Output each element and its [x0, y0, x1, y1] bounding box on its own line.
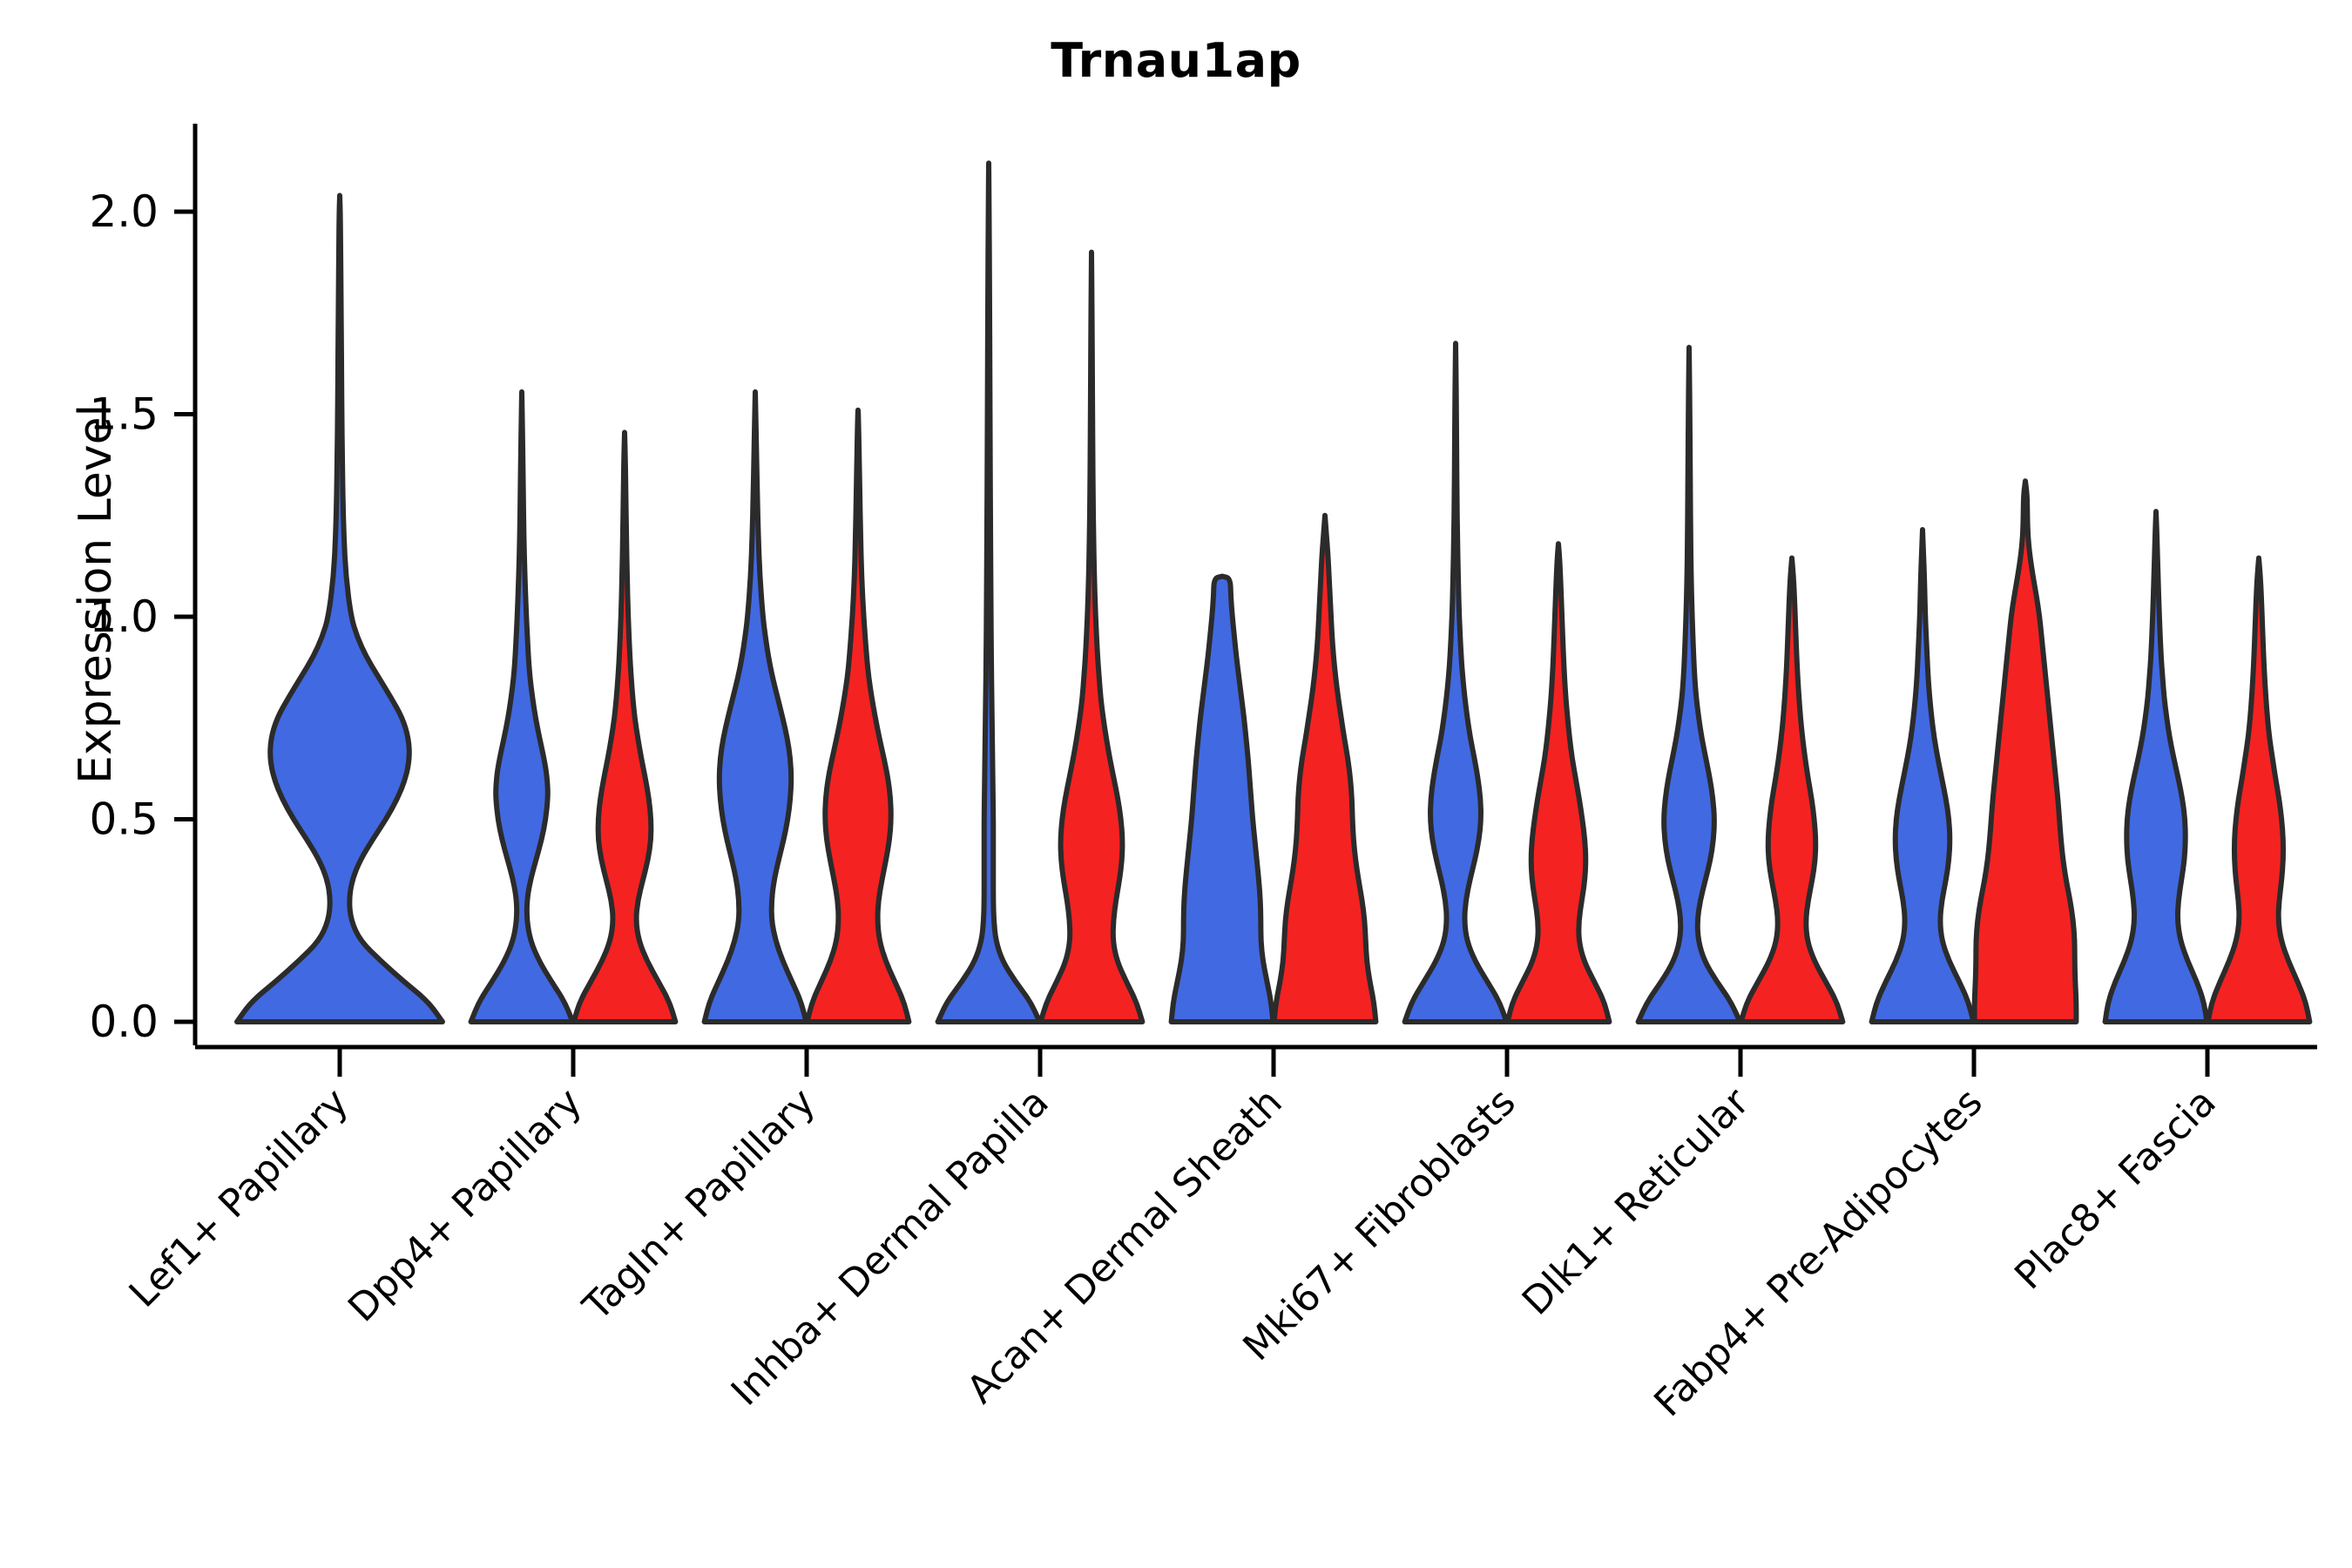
- violin-plot-figure: Trnau1ap Expression Level 0.00.51.01.52.…: [0, 0, 2352, 1568]
- violin-shapes: [237, 163, 2309, 1022]
- violin-group_a[interactable]: [1872, 530, 1974, 1022]
- violin-group_b[interactable]: [1508, 544, 1610, 1022]
- violin-group_b[interactable]: [1975, 481, 2077, 1022]
- y-tick-label: 2.0: [89, 186, 159, 237]
- x-tick-label: Dlk1+ Reticular: [1514, 1079, 1759, 1324]
- violin-group_a[interactable]: [1639, 348, 1740, 1022]
- violin-group_a[interactable]: [1172, 577, 1274, 1023]
- y-tick-label: 1.5: [89, 389, 159, 440]
- violin-group_a[interactable]: [938, 163, 1040, 1022]
- y-axis-ticks: 0.00.51.01.52.0: [89, 186, 195, 1047]
- x-tick-label: TagIn+ Papillary: [574, 1080, 824, 1330]
- x-axis-ticks: [340, 1047, 2207, 1077]
- x-tick-label: Plac8+ Fascia: [2006, 1080, 2225, 1299]
- x-axis-labels: Lef1+ PapillaryDpp4+ PapillaryTagIn+ Pap…: [121, 1079, 2225, 1425]
- violin-group_a[interactable]: [1405, 343, 1507, 1022]
- violin-group_b[interactable]: [574, 432, 676, 1022]
- violin-group_a[interactable]: [471, 392, 573, 1022]
- plot-canvas: 0.00.51.01.52.0 Lef1+ PapillaryDpp4+ Pap…: [0, 0, 2352, 1568]
- violin-group_b[interactable]: [1274, 516, 1376, 1022]
- violin-group_a[interactable]: [237, 195, 443, 1022]
- violin-group_b[interactable]: [1041, 253, 1143, 1023]
- y-tick-label: 1.0: [89, 591, 159, 642]
- y-tick-label: 0.5: [89, 794, 159, 845]
- violin-group_a[interactable]: [2105, 511, 2207, 1022]
- x-tick-label: Lef1+ Papillary: [121, 1080, 357, 1316]
- violin-group_a[interactable]: [705, 392, 807, 1022]
- violin-group_b[interactable]: [1741, 558, 1843, 1022]
- y-tick-label: 0.0: [89, 997, 159, 1047]
- violin-group_b[interactable]: [2208, 558, 2310, 1022]
- x-tick-label: Dpp4+ Papillary: [340, 1080, 591, 1331]
- violin-group_b[interactable]: [808, 410, 909, 1022]
